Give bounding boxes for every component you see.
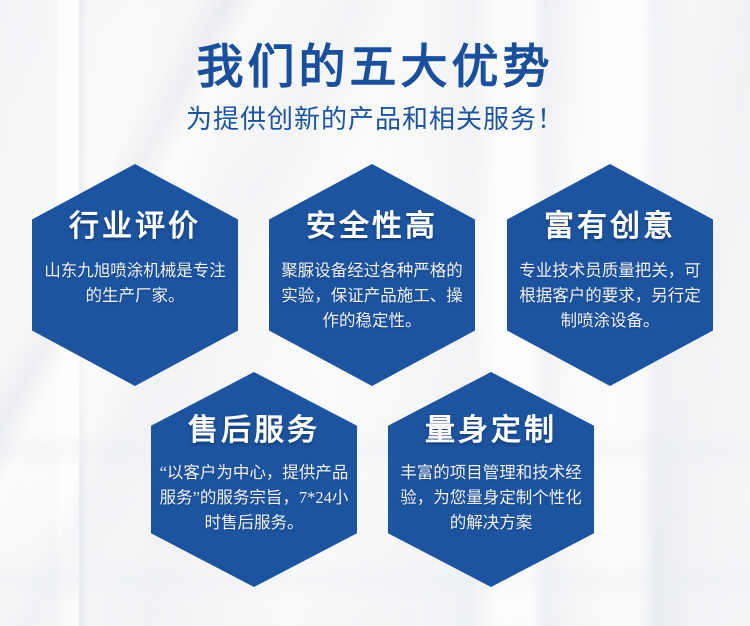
advantage-body: 专业技术员质量把关，可根据客户的要求，另行定制喷涂设备。 [517, 258, 703, 333]
advantage-card-after-sales-service[interactable]: 售后服务 “以客户为中心，提供产品服务”的服务宗旨，7*24小时售后服务。 [151, 372, 357, 587]
advantage-card-high-safety[interactable]: 安全性高 聚脲设备经过各种严格的实验，保证产品施工、操作的稳定性。 [269, 164, 475, 386]
advantage-heading: 售后服务 [188, 416, 320, 446]
advantage-heading: 行业评价 [69, 212, 201, 242]
advantage-heading: 富有创意 [544, 212, 676, 242]
banner-header: 我们的五大优势 为提供创新的产品和相关服务！ [0, 44, 750, 135]
advantage-body: 丰富的项目管理和技术经验，为您量身定制个性化的解决方案 [396, 460, 586, 535]
advantage-card-tailor-made[interactable]: 量身定制 丰富的项目管理和技术经验，为您量身定制个性化的解决方案 [388, 372, 594, 587]
promo-banner: 我们的五大优势 为提供创新的产品和相关服务！ 行业评价 山东九旭喷涂机械是专注的… [0, 0, 750, 626]
advantage-body: 聚脲设备经过各种严格的实验，保证产品施工、操作的稳定性。 [279, 258, 465, 333]
advantage-heading: 安全性高 [306, 212, 438, 242]
advantage-card-creative[interactable]: 富有创意 专业技术员质量把关，可根据客户的要求，另行定制喷涂设备。 [507, 164, 713, 386]
advantage-body: “以客户为中心，提供产品服务”的服务宗旨，7*24小时售后服务。 [159, 460, 349, 535]
page-subtitle: 为提供创新的产品和相关服务！ [0, 106, 750, 135]
page-title: 我们的五大优势 [0, 44, 750, 93]
advantage-heading: 量身定制 [425, 416, 557, 446]
advantage-body: 山东九旭喷涂机械是专注的生产厂家。 [42, 258, 228, 308]
advantage-card-industry-evaluation[interactable]: 行业评价 山东九旭喷涂机械是专注的生产厂家。 [32, 164, 238, 386]
